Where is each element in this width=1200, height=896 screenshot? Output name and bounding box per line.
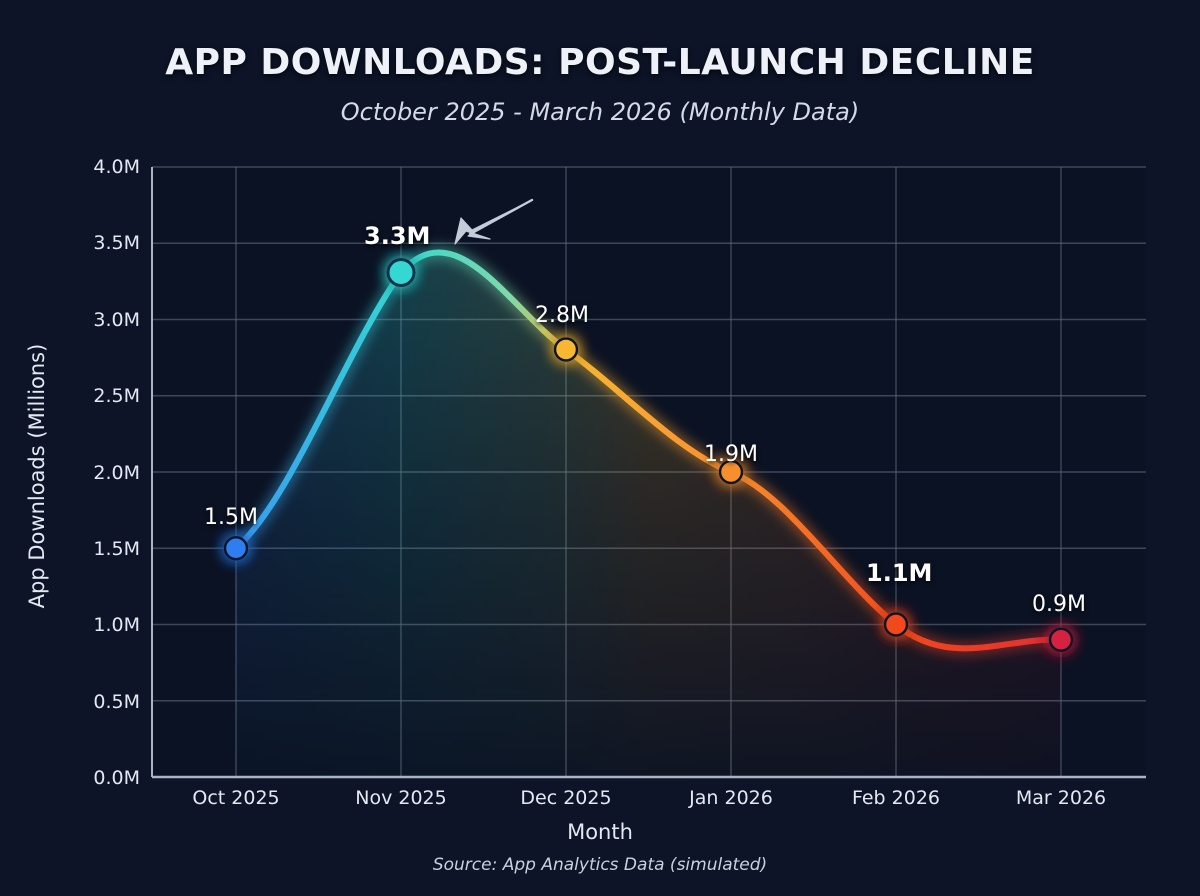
data-point-mar-2026[interactable] xyxy=(1050,629,1072,651)
value-label-jan-2026: 1.9M xyxy=(704,442,758,467)
data-point-dec-2025[interactable] xyxy=(555,339,577,361)
chart-figure: APP DOWNLOADS: POST-LAUNCH DECLINE Octob… xyxy=(0,0,1200,896)
data-point-nov-2025[interactable] xyxy=(388,260,414,286)
data-point-oct-2025[interactable] xyxy=(225,537,247,559)
value-label-oct-2025: 1.5M xyxy=(204,505,258,530)
plot-canvas xyxy=(0,0,1200,896)
value-label-dec-2025: 2.8M xyxy=(535,303,589,328)
value-label-feb-2026: 1.1M xyxy=(866,559,932,587)
value-label-nov-2025: 3.3M xyxy=(364,222,430,250)
value-label-mar-2026: 0.9M xyxy=(1032,592,1086,617)
data-point-feb-2026[interactable] xyxy=(885,614,907,636)
